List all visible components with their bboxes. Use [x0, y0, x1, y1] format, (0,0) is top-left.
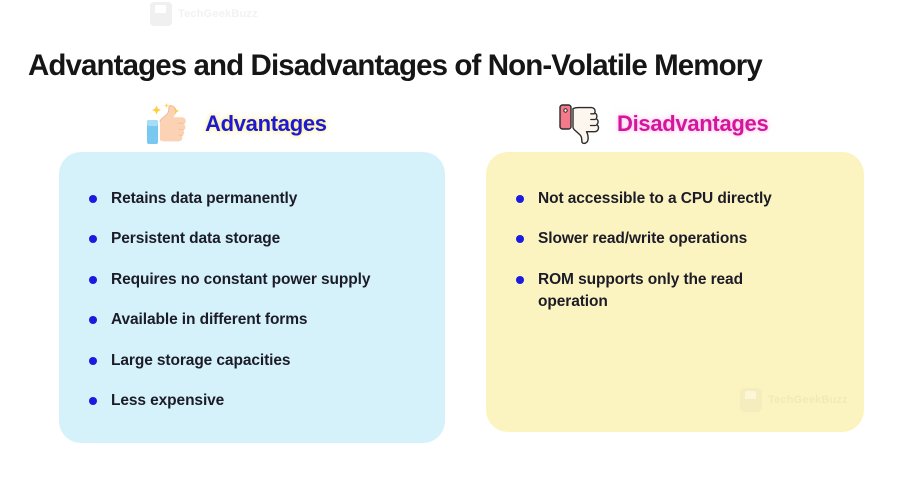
list-item-label: Slower read/write operations — [538, 228, 747, 250]
list-item-label: Retains data permanently — [111, 188, 297, 210]
disadvantages-card: Not accessible to a CPU directly Slower … — [486, 152, 864, 432]
bullet-icon — [516, 195, 524, 203]
thumbs-up-icon — [145, 102, 191, 146]
list-item: Slower read/write operations — [516, 228, 838, 250]
list-item-label: Large storage capacities — [111, 350, 290, 372]
bullet-icon — [89, 316, 97, 324]
bullet-icon — [89, 276, 97, 284]
list-item-label: ROM supports only the read operation — [538, 269, 798, 314]
list-item-label: Requires no constant power supply — [111, 269, 370, 291]
bullet-icon — [516, 276, 524, 284]
bullet-icon — [89, 357, 97, 365]
list-item: ROM supports only the read operation — [516, 269, 838, 314]
disadvantages-column: Disadvantages Not accessible to a CPU di… — [457, 96, 914, 443]
list-item-label: Persistent data storage — [111, 228, 280, 250]
list-item-label: Not accessible to a CPU directly — [538, 188, 772, 210]
advantages-header: Advantages — [0, 96, 457, 152]
bullet-icon — [89, 195, 97, 203]
bullet-icon — [89, 235, 97, 243]
bullet-icon — [89, 397, 97, 405]
list-item-label: Less expensive — [111, 390, 224, 412]
list-item: Requires no constant power supply — [89, 269, 419, 291]
list-item: Large storage capacities — [89, 350, 419, 372]
advantages-heading: Advantages — [205, 111, 327, 137]
list-item: Less expensive — [89, 390, 419, 412]
watermark-top: TechGeekBuzz — [150, 2, 258, 26]
page-title: Advantages and Disadvantages of Non-Vola… — [28, 48, 894, 83]
list-item: Available in different forms — [89, 309, 419, 331]
disadvantages-card-wrap: Not accessible to a CPU directly Slower … — [457, 152, 914, 432]
watermark-logo-icon — [150, 2, 172, 26]
list-item: Retains data permanently — [89, 188, 419, 210]
advantages-card-wrap: Retains data permanently Persistent data… — [0, 152, 457, 443]
advantages-card: Retains data permanently Persistent data… — [59, 152, 445, 443]
thumbs-down-icon — [557, 102, 603, 146]
comparison-columns: Advantages Retains data permanently Pers… — [0, 96, 914, 443]
list-item: Not accessible to a CPU directly — [516, 188, 838, 210]
list-item: Persistent data storage — [89, 228, 419, 250]
advantages-list: Retains data permanently Persistent data… — [89, 188, 419, 413]
advantages-column: Advantages Retains data permanently Pers… — [0, 96, 457, 443]
disadvantages-list: Not accessible to a CPU directly Slower … — [516, 188, 838, 314]
list-item-label: Available in different forms — [111, 309, 307, 331]
disadvantages-header: Disadvantages — [457, 96, 914, 152]
disadvantages-heading: Disadvantages — [617, 111, 768, 137]
watermark-text: TechGeekBuzz — [178, 8, 258, 20]
bullet-icon — [516, 235, 524, 243]
